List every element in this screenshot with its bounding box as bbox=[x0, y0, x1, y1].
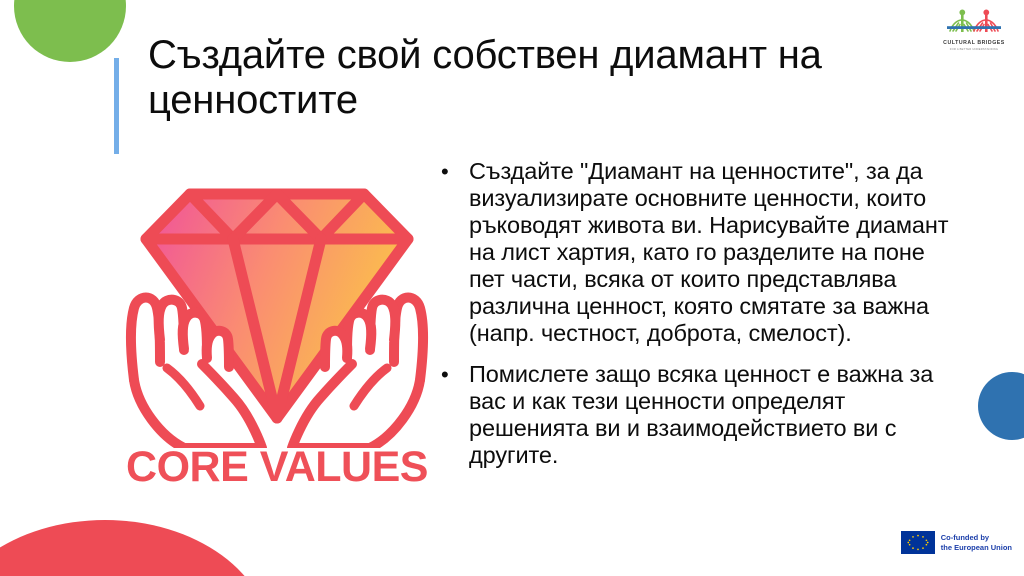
list-item: • Помислете защо всяка ценност е важна з… bbox=[437, 361, 957, 469]
hands-holding-diamond-icon bbox=[112, 118, 442, 448]
cultural-bridges-logo: CULTURAL BRIDGES FOR A BETTER UNDERSTAND… bbox=[932, 4, 1016, 51]
cultural-bridges-logo-icon bbox=[944, 4, 1004, 38]
bullet-text: Създайте "Диамант на ценностите", за да … bbox=[469, 158, 957, 347]
body-bullet-list: • Създайте "Диамант на ценностите", за д… bbox=[437, 158, 957, 483]
eu-funding-badge: Co-funded by the European Union bbox=[901, 531, 1012, 554]
eu-flag-icon bbox=[901, 531, 935, 554]
eu-badge-line2: the European Union bbox=[941, 543, 1012, 553]
hands-holding-diamond-illustration bbox=[112, 118, 442, 448]
eu-badge-line1: Co-funded by bbox=[941, 533, 1012, 543]
brand-subtitle: FOR A BETTER UNDERSTANDING bbox=[932, 48, 1016, 51]
slide-canvas: Създайте свой собствен диамант на ценнос… bbox=[0, 0, 1024, 576]
page-title: Създайте свой собствен диамант на ценнос… bbox=[148, 33, 918, 123]
bullet-text: Помислете защо всяка ценност е важна за … bbox=[469, 361, 957, 469]
bullet-marker-icon: • bbox=[437, 158, 469, 185]
decorative-red-ellipse bbox=[0, 520, 270, 576]
brand-name: CULTURAL BRIDGES bbox=[932, 40, 1016, 46]
eu-badge-text: Co-funded by the European Union bbox=[941, 533, 1012, 552]
decorative-green-circle bbox=[14, 0, 126, 62]
bullet-marker-icon: • bbox=[437, 361, 469, 388]
decorative-blue-circle bbox=[978, 372, 1024, 440]
list-item: • Създайте "Диамант на ценностите", за д… bbox=[437, 158, 957, 347]
illustration-caption: CORE VALUES bbox=[112, 443, 442, 492]
